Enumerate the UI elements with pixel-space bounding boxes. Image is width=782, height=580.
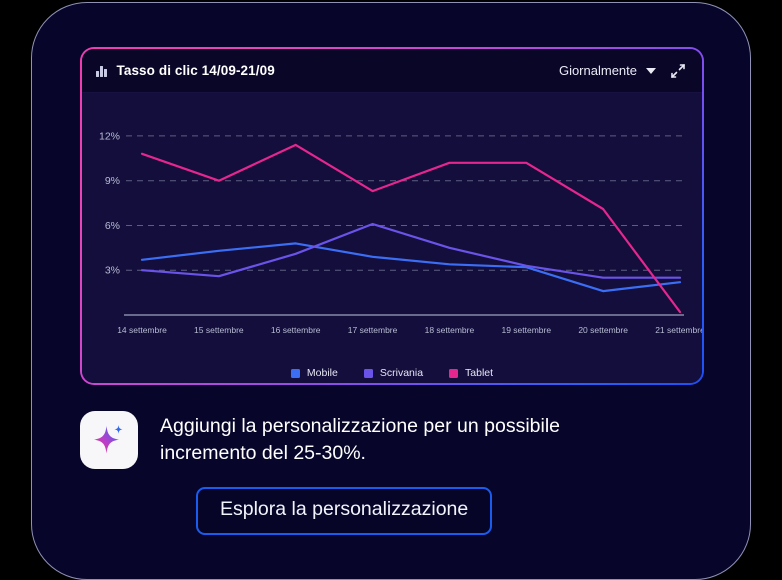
series-group <box>142 145 680 312</box>
x-axis-tick-label: 19 settembre <box>501 325 551 335</box>
x-axis-tick-label: 14 settembre <box>117 325 167 335</box>
x-axis-tick-label: 20 settembre <box>578 325 628 335</box>
legend-swatch <box>364 369 373 378</box>
legend-label: Mobile <box>307 367 338 379</box>
promo-row: Aggiungi la personalizzazione per un pos… <box>80 411 680 469</box>
x-axis-tick-label: 21 settembre <box>655 325 702 335</box>
x-axis-tick-label: 15 settembre <box>194 325 244 335</box>
y-axis-tick-label: 12% <box>99 130 120 142</box>
line-chart: 3%6%9%12% 14 settembre15 settembre16 set… <box>82 93 702 383</box>
legend-item-mobile[interactable]: Mobile <box>291 367 338 379</box>
sparkle-icon <box>89 420 129 460</box>
card-header-right: Giornalmente <box>559 63 686 79</box>
chart-card: Tasso di clic 14/09-21/09 Giornalmente <box>80 47 704 385</box>
sparkle-badge <box>80 411 138 469</box>
legend-label: Scrivania <box>380 367 423 379</box>
legend-swatch <box>449 369 458 378</box>
x-axis-labels: 14 settembre15 settembre16 settembre17 s… <box>117 325 702 335</box>
expand-icon[interactable] <box>670 63 686 79</box>
bar-chart-icon <box>96 65 107 77</box>
gridlines-group <box>126 136 684 270</box>
x-axis-tick-label: 18 settembre <box>425 325 475 335</box>
x-axis-tick-label: 17 settembre <box>348 325 398 335</box>
y-axis-tick-label: 3% <box>105 265 120 277</box>
x-axis-tick-label: 16 settembre <box>271 325 321 335</box>
page-title: Tasso di clic 14/09-21/09 <box>117 63 275 78</box>
legend-item-scrivania[interactable]: Scrivania <box>364 367 423 379</box>
legend-swatch <box>291 369 300 378</box>
y-axis-tick-label: 9% <box>105 175 120 187</box>
chevron-down-icon <box>646 68 656 74</box>
promo-text: Aggiungi la personalizzazione per un pos… <box>160 411 640 467</box>
card-header-left: Tasso di clic 14/09-21/09 <box>96 63 275 78</box>
granularity-dropdown[interactable]: Giornalmente <box>559 63 656 78</box>
chart-card-inner: Tasso di clic 14/09-21/09 Giornalmente <box>82 49 702 383</box>
y-axis-tick-label: 6% <box>105 220 120 232</box>
legend-item-tablet[interactable]: Tablet <box>449 367 493 379</box>
card-header: Tasso di clic 14/09-21/09 Giornalmente <box>82 49 702 93</box>
legend-label: Tablet <box>465 367 493 379</box>
y-axis-labels: 3%6%9%12% <box>99 130 120 276</box>
chart-legend: MobileScrivaniaTablet <box>82 367 702 379</box>
device-frame: Tasso di clic 14/09-21/09 Giornalmente <box>31 2 751 580</box>
explore-personalization-button[interactable]: Esplora la personalizzazione <box>196 487 492 535</box>
granularity-label: Giornalmente <box>559 63 637 78</box>
series-line-mobile <box>142 243 680 291</box>
plot-area: 3%6%9%12% 14 settembre15 settembre16 set… <box>82 93 702 383</box>
series-line-tablet <box>142 145 680 312</box>
